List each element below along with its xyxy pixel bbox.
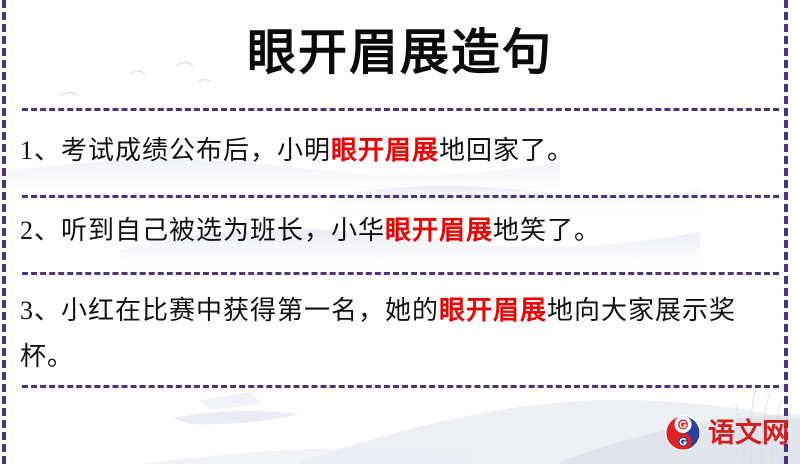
sentence-text-before-3: 小红在比赛中获得第一名，她的 xyxy=(61,296,439,325)
sentence-index-3: 3、 xyxy=(20,296,61,325)
divider-rule-1 xyxy=(22,108,779,111)
worksheet-page: 眼开眉展造句 1、考试成绩公布后，小明眼开眉展地回家了。 2、听到自己被选为班长… xyxy=(0,0,800,464)
site-watermark: 语文网 xyxy=(664,414,789,452)
taiji-circle-logo-icon xyxy=(664,414,702,452)
idiom-highlight-3: 眼开眉展 xyxy=(439,296,547,325)
sentence-text-after-2: 地笑了。 xyxy=(493,216,601,245)
sentence-item-3: 3、小红在比赛中获得第一名，她的眼开眉展地向大家展示奖杯。 xyxy=(20,288,780,380)
sentence-item-2: 2、听到自己被选为班长，小华眼开眉展地笑了。 xyxy=(20,208,780,254)
divider-rule-2 xyxy=(22,195,779,198)
watermark-text: 语文网 xyxy=(708,418,789,448)
sentence-text-before-2: 听到自己被选为班长，小华 xyxy=(61,216,385,245)
divider-rule-3 xyxy=(22,272,779,275)
idiom-highlight-2: 眼开眉展 xyxy=(385,216,493,245)
sentence-text-after-1: 地回家了。 xyxy=(439,136,574,165)
sentence-index-2: 2、 xyxy=(20,216,61,245)
page-title: 眼开眉展造句 xyxy=(0,24,800,82)
sentence-index-1: 1、 xyxy=(20,136,61,165)
divider-rule-4 xyxy=(22,385,779,388)
sentence-text-before-1: 考试成绩公布后，小明 xyxy=(61,136,331,165)
idiom-highlight-1: 眼开眉展 xyxy=(331,136,439,165)
sentence-item-1: 1、考试成绩公布后，小明眼开眉展地回家了。 xyxy=(20,128,780,174)
